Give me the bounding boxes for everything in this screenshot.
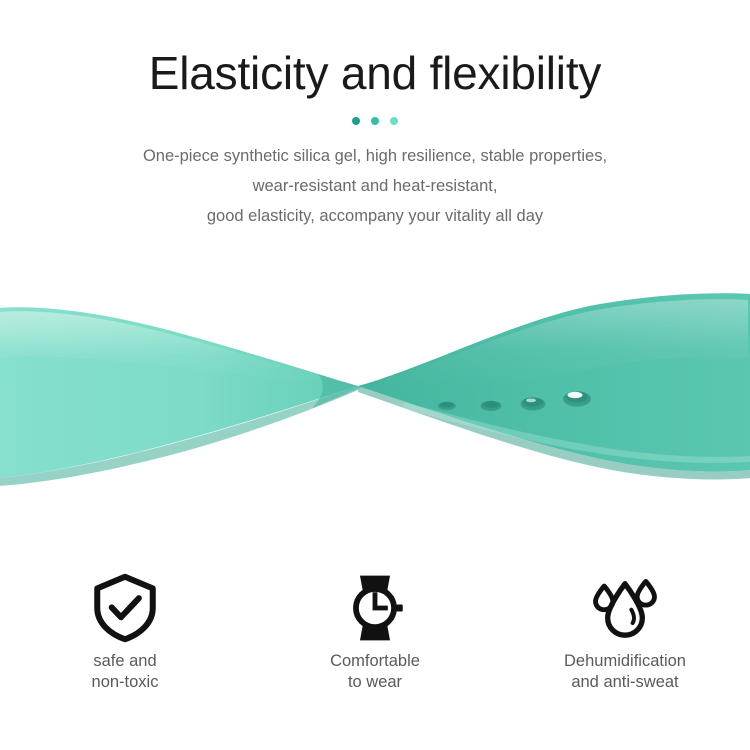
subtitle-line-2: wear-resistant and heat-resistant, [0, 171, 750, 201]
feature-dehumidification: Dehumidification and anti-sweat [500, 572, 750, 693]
dot-medium [371, 117, 379, 125]
feature-label-safe-non-toxic: safe and non-toxic [92, 651, 159, 693]
subtitle-paragraph: One-piece synthetic silica gel, high res… [0, 126, 750, 231]
feature-list: safe and non-toxic Comfortable to we [0, 572, 750, 693]
header: Elasticity and flexibility One-piece syn… [0, 0, 750, 231]
feature-safe-non-toxic: safe and non-toxic [0, 572, 250, 693]
feature-label-comfortable-to-wear: Comfortable to wear [330, 651, 420, 693]
twisted-band-illustration [0, 262, 750, 522]
subtitle-line-1: One-piece synthetic silica gel, high res… [0, 141, 750, 171]
adjust-hole-3 [521, 397, 546, 410]
product-feature-page: Elasticity and flexibility One-piece syn… [0, 0, 750, 750]
adjust-hole-4 [563, 391, 591, 407]
dot-separator [0, 116, 750, 126]
product-image [0, 262, 750, 522]
adjust-hole-1 [438, 402, 456, 410]
water-drops-icon [588, 572, 662, 644]
wristwatch-icon [338, 572, 412, 644]
page-title: Elasticity and flexibility [0, 0, 750, 102]
dot-light [390, 117, 398, 125]
adjust-hole-2 [481, 401, 502, 411]
feature-comfortable-to-wear: Comfortable to wear [250, 572, 500, 693]
shield-check-icon [88, 572, 162, 644]
subtitle-line-3: good elasticity, accompany your vitality… [0, 201, 750, 231]
feature-label-dehumidification: Dehumidification and anti-sweat [564, 651, 686, 693]
dot-dark [352, 117, 360, 125]
